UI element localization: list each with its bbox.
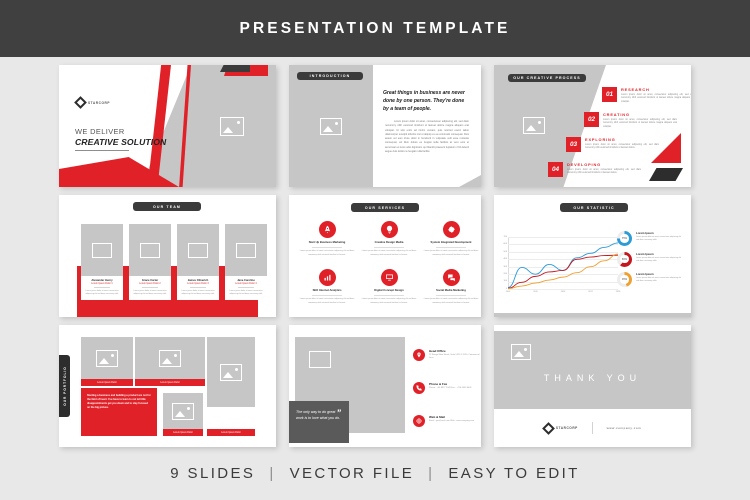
slide-cell-2: INTRODUCTION Great things in business ar…: [285, 61, 485, 191]
divider: [312, 247, 342, 248]
chart-y-tick: 0: [497, 288, 507, 290]
divider: [374, 295, 404, 296]
footer-separator: |: [269, 465, 275, 482]
divider: [238, 287, 254, 288]
gear-icon: [443, 221, 460, 238]
footer-vector-file: VECTOR FILE: [290, 465, 414, 482]
team-member-name: Grace Carter: [132, 279, 168, 282]
contact-lines: Phone : +44 8877 2043 Fax : +716 0099 66…: [429, 387, 472, 390]
slide3-section-badge: OUR CREATIVE PROCESS: [508, 74, 586, 82]
slide1-headline: CREATIVE SOLUTION: [75, 137, 166, 147]
phone-icon: [413, 382, 425, 394]
team-member-card[interactable]: Jane Caroline Lorem Ipsum Dolor 4 Lorem …: [225, 224, 267, 300]
team-member-text: Lorem ipsum dolor sit amet consectetur a…: [84, 290, 120, 296]
step-number: 02: [584, 112, 599, 127]
slide1-eyebrow: WE DELIVER: [75, 127, 166, 136]
portfolio-caption: Lorem Ipsum Dolor: [207, 429, 255, 436]
team-member-photo: [177, 224, 219, 276]
team-member-role: Lorem Ipsum Dolor 3: [180, 283, 216, 285]
portfolio-caption: Lorem Ipsum Dolor: [135, 379, 205, 386]
contact-title: Web & Mail: [429, 415, 474, 419]
donut-chart: 60%: [617, 252, 632, 267]
donut-chart: 75%: [617, 231, 632, 246]
step-number: 03: [566, 137, 581, 152]
chart-y-tick: 500: [497, 251, 507, 253]
slide9-footer: STARCORP www.company.com: [494, 409, 691, 447]
process-step[interactable]: 02 CREATING Lorem ipsum dolor sit amet, …: [584, 112, 677, 130]
slide-our-statistic[interactable]: OUR STATISTIC 0100200300400500600700 201…: [494, 195, 691, 317]
team-member-card[interactable]: Alexander Henry Lorem Ipsum Dolor 1 Lore…: [81, 224, 123, 300]
chart-x-tick: 2017: [588, 291, 593, 293]
slide7-tab-label: OUR PORTFOLIO: [63, 366, 67, 406]
portfolio-caption: Lorem Ipsum Dolor: [81, 379, 133, 386]
team-member-name: Alexander Henry: [84, 279, 120, 282]
service-name: Creative Design Media: [361, 241, 417, 245]
chart-line-series-2: [508, 255, 618, 288]
statistics-line-chart: 0100200300400500600700 20142015201620172…: [508, 237, 618, 289]
slide9-image-placeholder: [504, 339, 538, 365]
service-text: Lorem ipsum dolor sit amet consectetur a…: [423, 298, 479, 304]
donut-text: Lorem ipsum dolor sit amet consectetur a…: [636, 257, 683, 263]
chart-x-tick: 2016: [561, 291, 566, 293]
donut-title: Lorem Ipsum: [636, 272, 683, 276]
slide2-image-placeholder: [289, 65, 373, 187]
team-member-text: Lorem ipsum dolor sit amet consectetur a…: [132, 290, 168, 296]
slide-cell-7: OUR PORTFOLIO Lorem Ipsum Dolor Lorem Ip…: [55, 321, 280, 451]
page-footer: 9 SLIDES | VECTOR FILE | EASY TO EDIT: [0, 447, 750, 500]
chart-y-tick: 100: [497, 280, 507, 282]
slide-our-portfolio[interactable]: OUR PORTFOLIO Lorem Ipsum Dolor Lorem Ip…: [59, 325, 276, 447]
team-member-text: Lorem ipsum dolor sit amet consectetur a…: [180, 290, 216, 296]
chart-y-tick: 700: [497, 236, 507, 238]
slide4-section-badge: OUR TEAM: [133, 202, 201, 211]
footer-separator: |: [428, 465, 434, 482]
divider: [436, 295, 466, 296]
contact-lines: 22 Rouge Main Street, Suite 5520 1 2020,…: [429, 354, 481, 361]
slide1-corner-dark: [220, 65, 250, 72]
quote-mark-icon: ”: [337, 408, 342, 418]
divider: [94, 287, 110, 288]
donut-stat-item[interactable]: 75% Lorem Ipsum Lorem ipsum dolor sit am…: [617, 231, 683, 246]
chart-y-tick: 600: [497, 243, 507, 245]
slide9-url: www.company.com: [607, 426, 642, 430]
team-member-name: Jane Caroline: [228, 279, 264, 282]
divider: [312, 295, 342, 296]
step-text: Lorem ipsum dolor sit amet, consectetur …: [621, 94, 691, 105]
step-text: Lorem ipsum dolor sit amet, consectetur …: [603, 119, 677, 130]
slide-our-services[interactable]: OUR SERVICES Start Up Business Marketing…: [289, 195, 481, 317]
service-item[interactable]: System Integrated Development Lorem ipsu…: [423, 221, 479, 257]
chart-y-tick: 300: [497, 266, 507, 268]
team-member-photo: [129, 224, 171, 276]
team-member-role: Lorem Ipsum Dolor 4: [228, 283, 264, 285]
service-text: Lorem ipsum dolor sit amet consectetur a…: [361, 298, 417, 304]
service-item[interactable]: Start Up Business Marketing Lorem ipsum …: [299, 221, 355, 257]
donut-text: Lorem ipsum dolor sit amet consectetur a…: [636, 236, 683, 242]
slide1-title-block: WE DELIVER CREATIVE SOLUTION: [75, 127, 166, 151]
team-member-card[interactable]: Grace Carter Lorem Ipsum Dolor 2 Lorem i…: [129, 224, 171, 300]
slide-grid: STARCORP WE DELIVER CREATIVE SOLUTION IN…: [0, 57, 750, 447]
process-step[interactable]: 01 RESEARCH Lorem ipsum dolor sit amet, …: [602, 87, 691, 105]
step-number: 01: [602, 87, 617, 102]
step-number: 04: [548, 162, 563, 177]
service-item[interactable]: Creative Design Media Lorem ipsum dolor …: [361, 221, 417, 257]
contact-item[interactable]: Phone & Fax Phone : +44 8877 2043 Fax : …: [413, 382, 472, 394]
contact-item[interactable]: Web & Mail Email : you@mail.com Web : ww…: [413, 415, 474, 427]
service-name: SEO Internet Analytics: [299, 289, 355, 293]
donut-value: 60%: [622, 258, 627, 261]
step-text: Lorem ipsum dolor sit amet, consectetur …: [567, 169, 641, 177]
donut-text: Lorem ipsum dolor sit amet consectetur a…: [636, 277, 683, 283]
slide9-logo: STARCORP: [544, 424, 578, 433]
chat-icon: [443, 269, 460, 286]
slide3-image-placeholder: [502, 105, 566, 145]
slide2-quote: Great things in business are never done …: [383, 89, 469, 113]
portfolio-caption: Lorem Ipsum Dolor: [163, 429, 203, 436]
slide-our-team[interactable]: OUR TEAM Alexander Henry Lorem Ipsum Dol…: [59, 195, 276, 317]
page-title: PRESENTATION TEMPLATE: [240, 20, 511, 38]
lightbulb-icon: [381, 221, 398, 238]
team-member-card[interactable]: James Oliverich Lorem Ipsum Dolor 3 Lore…: [177, 224, 219, 300]
diamond-logo-icon: [542, 422, 555, 435]
divider: [142, 287, 158, 288]
portfolio-thumb[interactable]: [135, 337, 205, 379]
step-text: Lorem ipsum dolor sit amet, consectetur …: [585, 144, 659, 152]
service-name: Social Media Marketing: [423, 289, 479, 293]
slide4-left-notch: [59, 266, 77, 317]
team-member-role: Lorem Ipsum Dolor 1: [84, 283, 120, 285]
footer-easy-to-edit: EASY TO EDIT: [448, 465, 579, 482]
slide6-section-badge: OUR STATISTIC: [560, 203, 628, 212]
service-text: Lorem ipsum dolor sit amet consectetur a…: [299, 298, 355, 304]
service-name: Start Up Business Marketing: [299, 241, 355, 245]
service-item[interactable]: Social Media Marketing Lorem ipsum dolor…: [423, 269, 479, 305]
service-item[interactable]: Digital Concept Design Lorem ipsum dolor…: [361, 269, 417, 305]
donut-value: 45%: [622, 278, 627, 281]
slide-cell-6: OUR STATISTIC 0100200300400500600700 201…: [490, 191, 695, 321]
contact-title: Head Office: [429, 349, 481, 353]
slide-cell-3: OUR CREATIVE PROCESS 01 RESEARCH Lorem i…: [490, 61, 695, 191]
service-item[interactable]: SEO Internet Analytics Lorem ipsum dolor…: [299, 269, 355, 305]
process-step[interactable]: 03 EXPLORING Lorem ipsum dolor sit amet,…: [566, 137, 659, 152]
process-step[interactable]: 04 DEVELOPING Lorem ipsum dolor sit amet…: [548, 162, 641, 177]
contact-lines: Email : you@mail.com Web : www.company.c…: [429, 420, 474, 423]
page-header: PRESENTATION TEMPLATE: [0, 0, 750, 57]
logo-text: STARCORP: [88, 101, 110, 105]
chart-y-tick: 400: [497, 258, 507, 260]
slide2-body-text: Lorem ipsum dolor sit amet, consectetuer…: [385, 120, 469, 154]
globe-icon: [413, 415, 425, 427]
step-title: EXPLORING: [585, 137, 659, 142]
chart-line-series-1: [508, 243, 618, 288]
chart-x-tick: 2015: [533, 291, 538, 293]
slide-thank-you[interactable]: THANK YOU STARCORP www.company.com: [494, 325, 691, 447]
slide1-image-placeholder: [187, 65, 276, 187]
step-title: RESEARCH: [621, 87, 691, 92]
slide2-corner-accent: [459, 175, 481, 187]
chart-bar-icon: [319, 269, 336, 286]
slide9-title: THANK YOU: [494, 373, 691, 383]
contact-item[interactable]: Head Office 22 Rouge Main Street, Suite …: [413, 349, 481, 361]
slide3-dark-parallelogram: [649, 168, 683, 181]
service-name: System Integrated Development: [423, 241, 479, 245]
donut-stat-item[interactable]: 45% Lorem Ipsum Lorem ipsum dolor sit am…: [617, 272, 683, 287]
donut-title: Lorem Ipsum: [636, 231, 683, 235]
diamond-logo-icon: [74, 96, 87, 109]
slide8-quote-text: The only way to do great work is to love…: [296, 409, 342, 422]
donut-value: 75%: [622, 237, 627, 240]
location-pin-icon: [413, 349, 425, 361]
donut-title: Lorem Ipsum: [636, 252, 683, 256]
slide8-quote-box: ” The only way to do great work is to lo…: [289, 401, 349, 443]
divider: [190, 287, 206, 288]
step-title: CREATING: [603, 112, 677, 117]
slide-introduction[interactable]: INTRODUCTION Great things in business ar…: [289, 65, 481, 187]
team-member-photo: [225, 224, 267, 276]
chart-x-tick: 2014: [506, 291, 511, 293]
logo-text: STARCORP: [556, 426, 578, 430]
slide-cover[interactable]: STARCORP WE DELIVER CREATIVE SOLUTION: [59, 65, 276, 187]
divider: [374, 247, 404, 248]
portfolio-thumb[interactable]: [163, 393, 203, 429]
team-member-photo: [81, 224, 123, 276]
monitor-icon: [381, 269, 398, 286]
rocket-icon: [319, 221, 336, 238]
slide1-underline: [75, 150, 129, 151]
slide-cell-4: OUR TEAM Alexander Henry Lorem Ipsum Dol…: [55, 191, 280, 321]
service-text: Lorem ipsum dolor sit amet consectetur a…: [361, 250, 417, 256]
footer-slides-count: 9 SLIDES: [170, 465, 255, 482]
donut-stat-item[interactable]: 60% Lorem Ipsum Lorem ipsum dolor sit am…: [617, 252, 683, 267]
slide7-highlight-text: Starting a business and building a produ…: [81, 388, 157, 436]
chart-y-tick: 200: [497, 273, 507, 275]
step-title: DEVELOPING: [567, 162, 641, 167]
slide-cell-9: THANK YOU STARCORP www.company.com: [490, 321, 695, 451]
slide-cell-8: Head Office 22 Rouge Main Street, Suite …: [285, 321, 485, 451]
chart-series-paths: [508, 237, 618, 289]
slide-cell-1: STARCORP WE DELIVER CREATIVE SOLUTION: [55, 61, 280, 191]
slide7-vertical-tab: OUR PORTFOLIO: [59, 355, 70, 417]
slide-creative-process[interactable]: OUR CREATIVE PROCESS 01 RESEARCH Lorem i…: [494, 65, 691, 187]
team-member-role: Lorem Ipsum Dolor 2: [132, 283, 168, 285]
service-name: Digital Concept Design: [361, 289, 417, 293]
slide-contact[interactable]: Head Office 22 Rouge Main Street, Suite …: [289, 325, 481, 447]
service-text: Lorem ipsum dolor sit amet consectetur a…: [423, 250, 479, 256]
slide1-logo: STARCORP: [76, 98, 110, 107]
service-text: Lorem ipsum dolor sit amet consectetur a…: [299, 250, 355, 256]
slide-cell-5: OUR SERVICES Start Up Business Marketing…: [285, 191, 485, 321]
contact-title: Phone & Fax: [429, 382, 472, 386]
divider: [592, 422, 593, 434]
team-member-text: Lorem ipsum dolor sit amet consectetur a…: [228, 290, 264, 296]
slide2-section-badge: INTRODUCTION: [297, 72, 363, 80]
team-member-name: James Oliverich: [180, 279, 216, 282]
portfolio-thumb[interactable]: [81, 337, 133, 379]
statistics-donut-list: 75% Lorem Ipsum Lorem ipsum dolor sit am…: [617, 231, 683, 293]
portfolio-thumb[interactable]: [207, 337, 255, 407]
slide5-section-badge: OUR SERVICES: [351, 203, 419, 212]
slide6-footer-bar: [494, 313, 691, 317]
donut-chart: 45%: [617, 272, 632, 287]
divider: [436, 247, 466, 248]
chart-line-series-3: [508, 254, 618, 289]
